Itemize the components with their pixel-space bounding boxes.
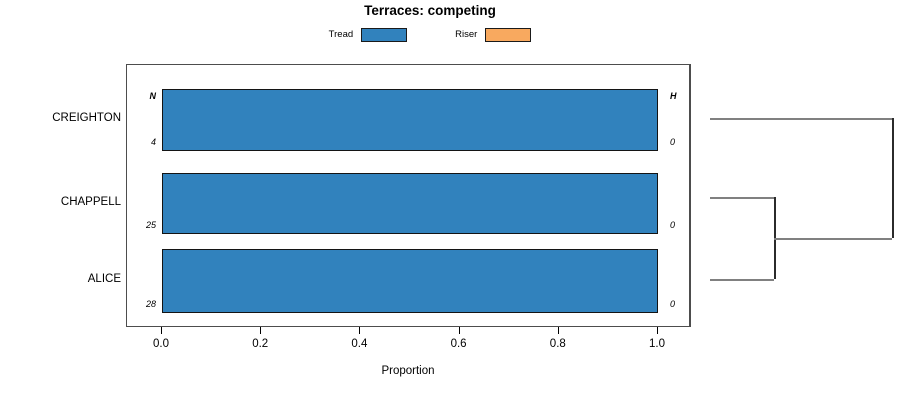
legend-swatch-riser-icon	[485, 28, 531, 42]
column-header-h: H	[670, 91, 677, 101]
x-tick-mark	[657, 327, 658, 334]
dendrogram-divider	[690, 64, 691, 327]
x-tick-mark	[459, 327, 460, 334]
row-h-value: 0	[670, 299, 675, 309]
dendrogram	[690, 64, 900, 327]
legend-label-riser: Riser	[455, 30, 477, 40]
chart-legend: Tread Riser	[0, 27, 880, 43]
x-tick-label: 1.0	[637, 338, 677, 350]
dendrogram-leaf-creighton	[710, 118, 892, 120]
dendrogram-leaf-alice	[710, 279, 774, 281]
row-h-value: 0	[670, 137, 675, 147]
bar-segment-tread[interactable]	[162, 249, 658, 313]
dendrogram-merge-root	[892, 118, 894, 238]
bar-segment-tread[interactable]	[162, 89, 658, 151]
chart-canvas: Terraces: competing Tread Riser CREIGHTO…	[0, 0, 900, 400]
legend-label-tread: Tread	[329, 30, 353, 40]
x-axis-title: Proportion	[126, 365, 690, 377]
x-tick-mark	[558, 327, 559, 334]
plot-panel: 40250280NH	[126, 64, 690, 327]
row-h-value: 0	[670, 220, 675, 230]
x-tick-label: 0.8	[538, 338, 578, 350]
legend-swatch-tread-icon	[361, 28, 407, 42]
row-n-value: 25	[127, 220, 156, 230]
row-n-value: 28	[127, 299, 156, 309]
category-label-creighton: CREIGHTON	[0, 112, 121, 124]
x-tick-mark	[260, 327, 261, 334]
legend-entry-riser[interactable]: Riser	[455, 28, 531, 42]
x-tick-label: 0.2	[240, 338, 280, 350]
x-tick-label: 0.4	[339, 338, 379, 350]
category-label-chappell: CHAPPELL	[0, 196, 121, 208]
column-header-n: N	[127, 91, 156, 101]
category-label-alice: ALICE	[0, 273, 121, 285]
x-tick-label: 0.0	[141, 338, 181, 350]
x-tick-label: 0.6	[439, 338, 479, 350]
dendrogram-branch-inner-to-root	[774, 238, 892, 240]
legend-entry-tread[interactable]: Tread	[329, 28, 407, 42]
row-n-value: 4	[127, 137, 156, 147]
x-tick-mark	[359, 327, 360, 334]
bar-segment-tread[interactable]	[162, 173, 658, 234]
x-tick-mark	[161, 327, 162, 334]
page-title: Terraces: competing	[0, 3, 880, 18]
dendrogram-leaf-chappell	[710, 197, 774, 199]
